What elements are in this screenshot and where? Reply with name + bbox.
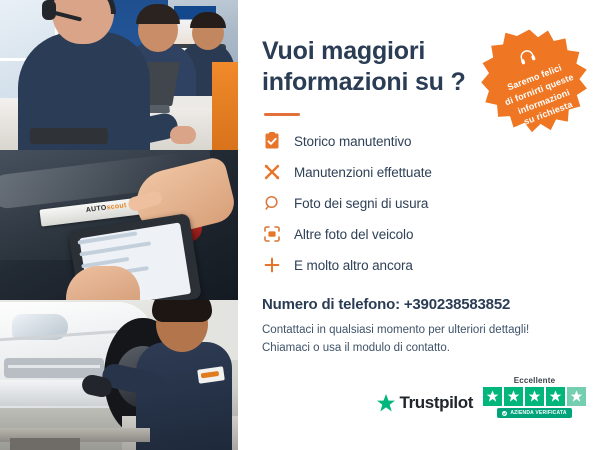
keyboard [30, 128, 108, 144]
list-item-altre-foto-veicolo[interactable]: Altre foto del veicolo [262, 223, 578, 245]
title-divider [264, 113, 300, 116]
list-item-label: Foto dei segni di usura [294, 196, 428, 211]
star-3 [525, 387, 544, 406]
star-1 [483, 387, 502, 406]
verified-text: AZIENDA VERIFICATA [510, 410, 566, 416]
list-item-label: E molto altro ancora [294, 258, 413, 273]
list-item-molto-altro[interactable]: E molto altro ancora [262, 254, 578, 276]
list-item-label: Storico manutentivo [294, 134, 411, 149]
photo-column: AUTOscout [0, 0, 238, 450]
car-damage-measurement-photo: AUTOscout [0, 150, 238, 300]
mechanic [136, 342, 232, 450]
worker-hair [190, 12, 226, 28]
promo-banner: AUTOscout [0, 0, 600, 450]
trustpilot-rating: Eccellente [483, 376, 586, 418]
list-item-label: Manutenzioni effettuate [294, 165, 432, 180]
star-2 [504, 387, 523, 406]
headphones-icon [516, 46, 539, 71]
scan-frame-icon [262, 224, 282, 244]
content-panel: Vuoi maggiori informazioni su ? Storico … [238, 0, 600, 450]
feature-list: Storico manutentivo Manutenzioni effettu… [262, 130, 578, 276]
page-title: Vuoi maggiori informazioni su ? [262, 36, 472, 97]
clipboard-check-icon [262, 131, 282, 151]
car-lift-base [10, 438, 80, 450]
measuring-strip-label: AUTOscout [85, 202, 127, 214]
star-rating [483, 387, 586, 406]
call-center-agents-photo [0, 0, 238, 150]
list-item-manutenzioni-effettuate[interactable]: Manutenzioni effettuate [262, 161, 578, 183]
contact-description: Contattaci in qualsiasi momento per ulte… [262, 322, 578, 358]
star-5-partial [567, 387, 586, 406]
verified-check-icon [502, 411, 507, 416]
mechanic-wheel-inspection-photo [0, 300, 238, 450]
contact-line-1: Contattaci in qualsiasi momento per ulte… [262, 322, 578, 340]
phone-label: Numero di telefono: [262, 296, 400, 313]
list-item-label: Altre foto del veicolo [294, 227, 413, 242]
rating-label: Eccellente [514, 376, 556, 385]
orange-rack [212, 62, 238, 150]
list-item-foto-segni-usura[interactable]: Foto dei segni di usura [262, 192, 578, 214]
phone-number[interactable]: +390238583852 [404, 296, 510, 313]
plus-icon [262, 255, 282, 275]
trustpilot-widget[interactable]: Trustpilot Eccellente [376, 376, 586, 418]
trustpilot-name: Trustpilot [400, 393, 473, 413]
magnifier-icon [262, 193, 282, 213]
contact-line-2: Chiamaci o usa il modulo di contatto. [262, 340, 578, 358]
callout-badge: Saremo felici di fornirti queste informa… [475, 21, 600, 147]
verified-badge: AZIENDA VERIFICATA [497, 408, 571, 418]
trustpilot-star-icon [376, 394, 396, 413]
crossed-tools-icon [262, 162, 282, 182]
phone-line[interactable]: Numero di telefono: +390238583852 [262, 296, 578, 313]
agent-hand [170, 126, 196, 144]
uniform-logo-patch [197, 366, 225, 383]
trustpilot-logo: Trustpilot [376, 393, 473, 418]
star-4 [546, 387, 565, 406]
mechanic-hair [152, 300, 212, 322]
